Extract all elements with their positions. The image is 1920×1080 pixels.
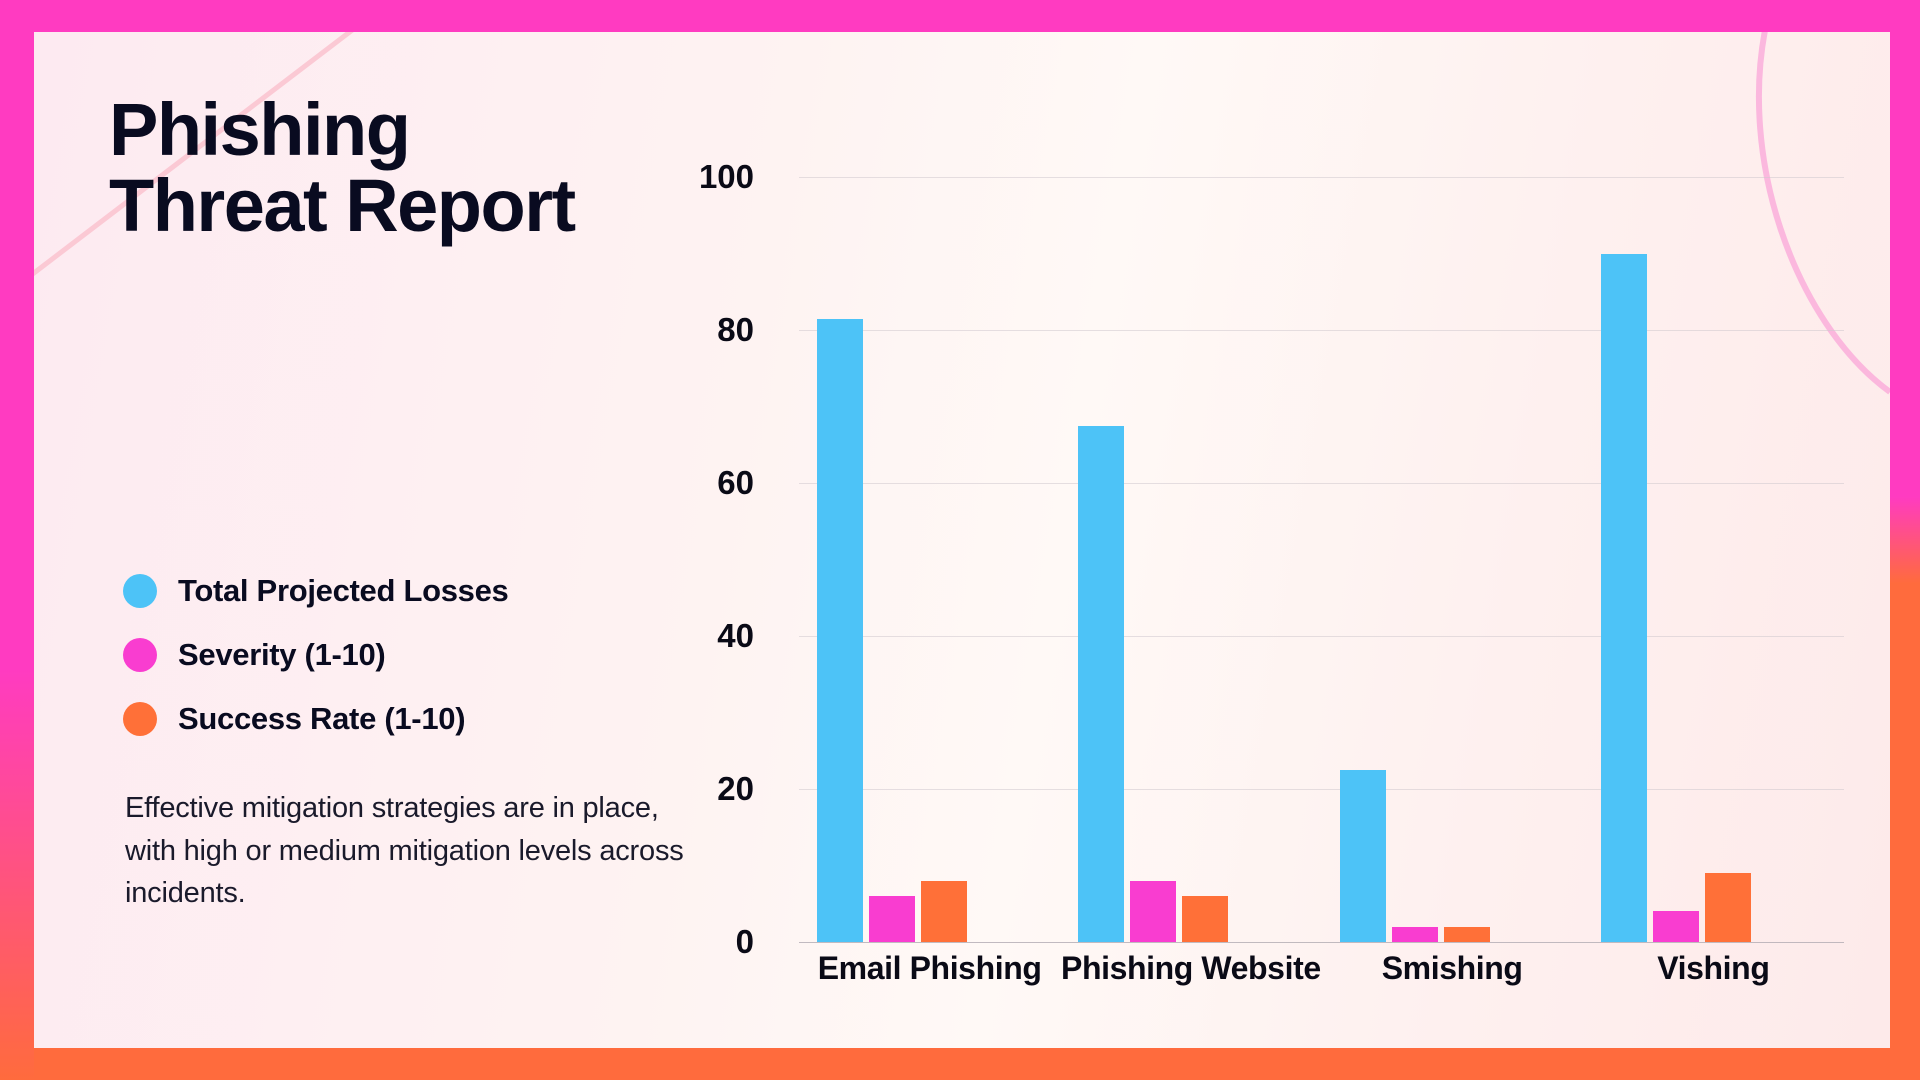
bar-group [1060,177,1321,942]
y-axis-tick-20: 20 [634,770,754,808]
poster-frame: Phishing Threat Report Total Projected L… [0,0,1920,1080]
y-axis-tick-80: 80 [634,311,754,349]
legend-swatch-orange [123,702,157,736]
legend-label: Severity (1-10) [178,637,385,673]
legend-swatch-magenta [123,638,157,672]
x-axis-label: Email Phishing [799,950,1060,987]
bar[interactable] [921,881,967,942]
bar[interactable] [1705,873,1751,942]
bar[interactable] [817,319,863,942]
bar-chart: 020406080100 Email PhishingPhishing Webs… [694,132,1854,1012]
chart-legend: Total Projected Losses Severity (1-10) S… [123,572,508,764]
bar[interactable] [1601,254,1647,943]
x-axis-label: Smishing [1322,950,1583,987]
plot-area: 020406080100 [799,177,1844,942]
legend-item-total-projected-losses[interactable]: Total Projected Losses [123,572,508,610]
x-axis-label: Phishing Website [1060,950,1321,987]
y-axis-tick-100: 100 [634,158,754,196]
bar[interactable] [1182,896,1228,942]
bar-group [799,177,1060,942]
left-panel: Phishing Threat Report Total Projected L… [109,92,729,992]
bar[interactable] [1392,927,1438,942]
bar[interactable] [1444,927,1490,942]
summary-text: Effective mitigation strategies are in p… [125,787,705,915]
bar-group [1583,177,1844,942]
y-axis-tick-60: 60 [634,464,754,502]
legend-item-severity[interactable]: Severity (1-10) [123,636,508,674]
bar[interactable] [869,896,915,942]
x-axis-label: Vishing [1583,950,1844,987]
bar[interactable] [1340,770,1386,942]
bar-groups [799,177,1844,942]
y-axis-tick-0: 0 [634,923,754,961]
y-axis-tick-40: 40 [634,617,754,655]
legend-item-success-rate[interactable]: Success Rate (1-10) [123,700,508,738]
gridline-0 [799,942,1844,943]
legend-label: Success Rate (1-10) [178,701,465,737]
legend-label: Total Projected Losses [178,573,508,609]
bar[interactable] [1130,881,1176,942]
legend-swatch-blue [123,574,157,608]
bar[interactable] [1078,426,1124,942]
content-card: Phishing Threat Report Total Projected L… [34,32,1890,1048]
bar-group [1322,177,1583,942]
x-axis-labels: Email PhishingPhishing WebsiteSmishingVi… [799,950,1844,987]
frame-left-accent [0,0,34,1080]
bar[interactable] [1653,911,1699,942]
